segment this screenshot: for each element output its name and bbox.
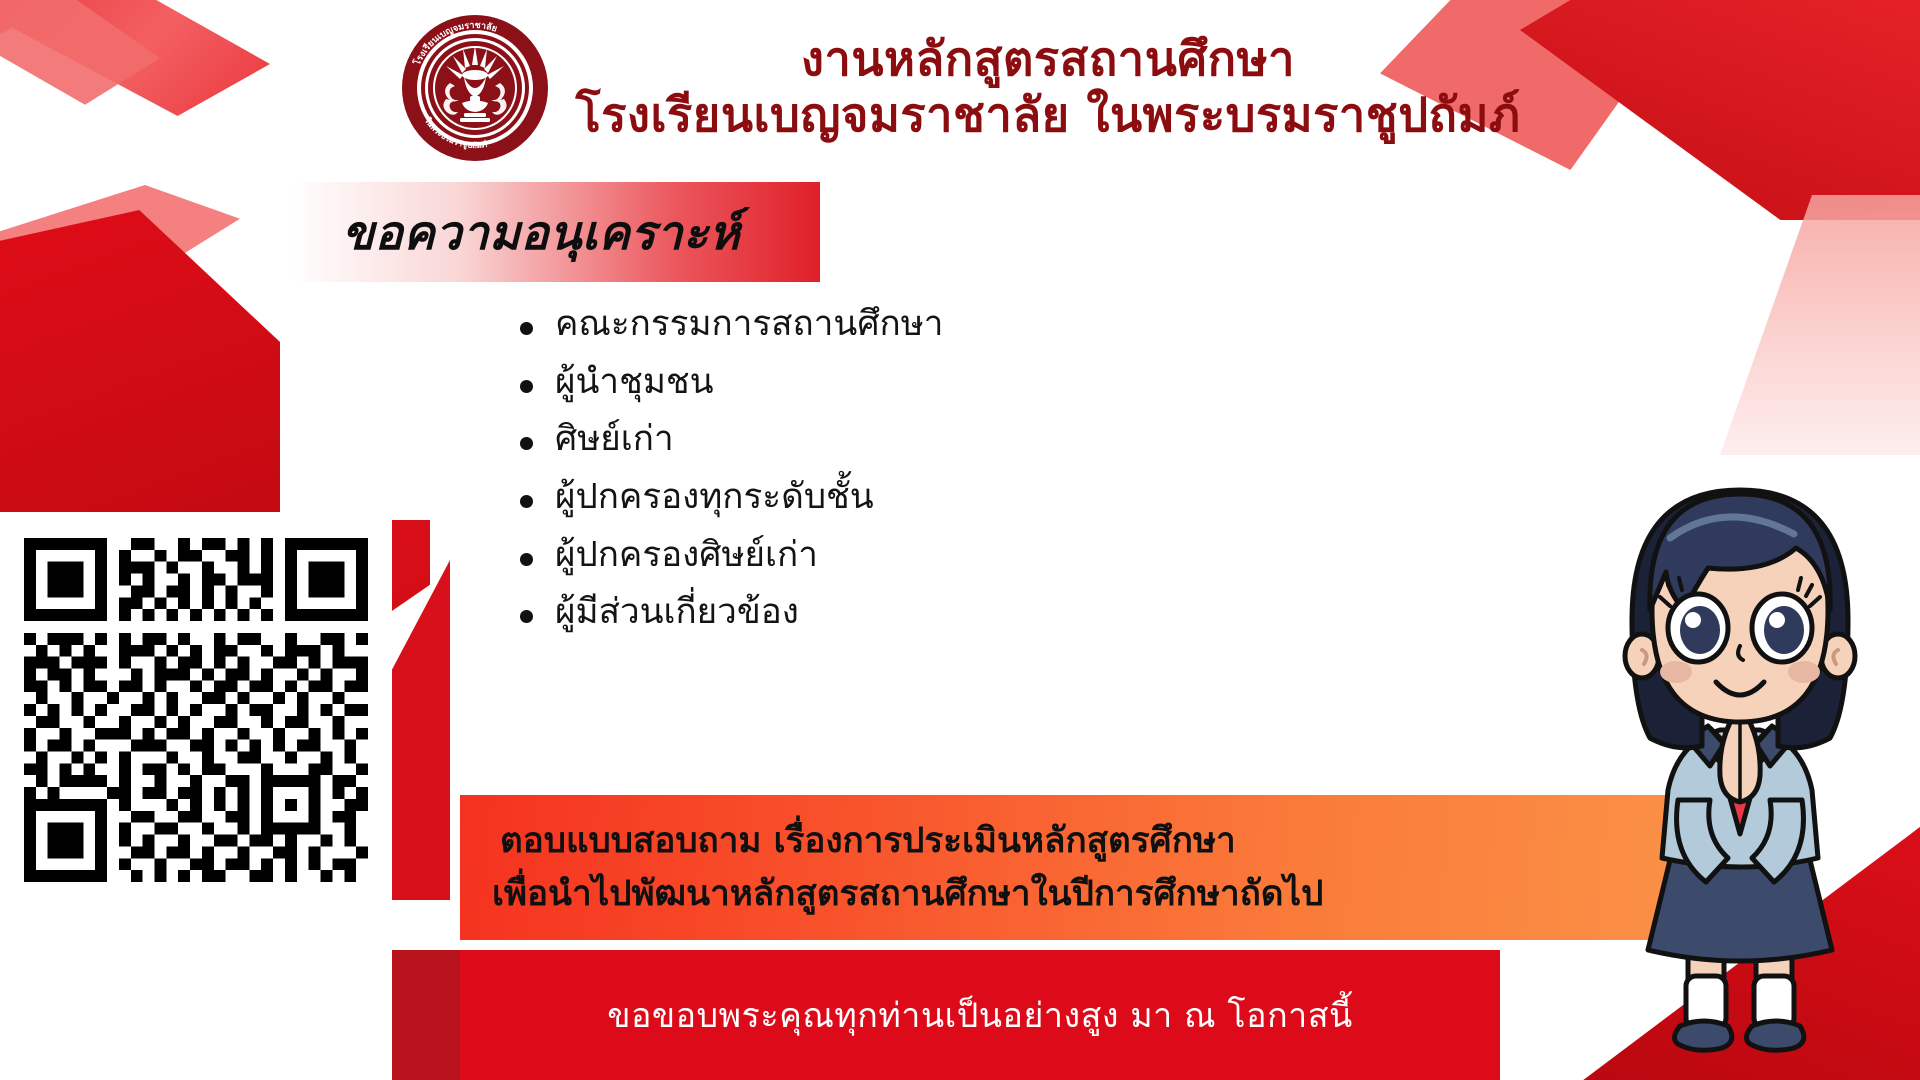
header-title-group: งานหลักสูตรสถานศึกษา โรงเรียนเบญจมราชาลั… — [576, 32, 1521, 143]
bullet-dot-icon — [520, 380, 533, 393]
page-title-line-1: งานหลักสูตรสถานศึกษา — [801, 32, 1295, 87]
thai-schoolgirl-wai-illustration — [1560, 460, 1920, 1080]
list-item: ผู้นำชุมชน — [520, 358, 1340, 408]
qr-code-panel — [0, 512, 392, 1080]
thank-you-footer: ขอขอบพระคุณทุกท่านเป็นอย่างสูง มา ณ โอกา… — [460, 950, 1500, 1080]
request-banner: ขอความอนุเคราะห์ — [290, 182, 820, 282]
bullet-dot-icon — [520, 610, 533, 623]
list-item-label: ผู้ปกครองทุกระดับชั้น — [555, 473, 874, 523]
footer-bar-shadow — [390, 950, 470, 1080]
thank-you-text: ขอขอบพระคุณทุกท่านเป็นอย่างสูง มา ณ โอกา… — [607, 988, 1353, 1042]
bullet-dot-icon — [520, 495, 533, 508]
poster-header: โรงเรียนเบญจมราชาลัย ในพระบรมราชูปถัมภ์ … — [0, 0, 1920, 175]
call-to-action-banner: ตอบแบบสอบถาม เรื่องการประเมินหลักสูตรศึก… — [460, 795, 1675, 940]
poster-canvas: โรงเรียนเบญจมราชาลัย ในพระบรมราชูปถัมภ์ … — [0, 0, 1920, 1080]
list-item-label: ผู้ปกครองศิษย์เก่า — [555, 531, 818, 581]
school-seal-logo: โรงเรียนเบญจมราชาลัย ในพระบรมราชูปถัมภ์ — [400, 13, 550, 163]
qr-code-survey[interactable] — [24, 538, 368, 882]
page-title-line-2: โรงเรียนเบญจมราชาลัย ในพระบรมราชูปถัมภ์ — [576, 88, 1521, 143]
list-item-label: ศิษย์เก่า — [555, 415, 674, 465]
left-red-block-decoration — [0, 210, 280, 540]
right-middle-pale-decoration — [1720, 195, 1920, 455]
audience-list: คณะกรรมการสถานศึกษา ผู้นำชุมชน ศิษย์เก่า… — [520, 300, 1340, 638]
bullet-dot-icon — [520, 322, 533, 335]
request-banner-label: ขอความอนุเคราะห์ — [342, 195, 740, 270]
list-item-label: ผู้มีส่วนเกี่ยวข้อง — [555, 588, 799, 638]
list-item: ผู้ปกครองทุกระดับชั้น — [520, 473, 1340, 523]
list-item: ผู้ปกครองศิษย์เก่า — [520, 531, 1340, 581]
bullet-dot-icon — [520, 553, 533, 566]
list-item: คณะกรรมการสถานศึกษา — [520, 300, 1340, 350]
list-item: ผู้มีส่วนเกี่ยวข้อง — [520, 588, 1340, 638]
list-item-label: ผู้นำชุมชน — [555, 358, 714, 408]
bullet-dot-icon — [520, 437, 533, 450]
left-salmon-block-decoration — [0, 185, 240, 315]
cta-line-2: เพื่อนำไปพัฒนาหลักสูตรสถานศึกษาในปีการศึ… — [492, 868, 1675, 921]
list-item-label: คณะกรรมการสถานศึกษา — [555, 300, 943, 350]
list-item: ศิษย์เก่า — [520, 415, 1340, 465]
cta-line-1: ตอบแบบสอบถาม เรื่องการประเมินหลักสูตรศึก… — [500, 815, 1675, 868]
